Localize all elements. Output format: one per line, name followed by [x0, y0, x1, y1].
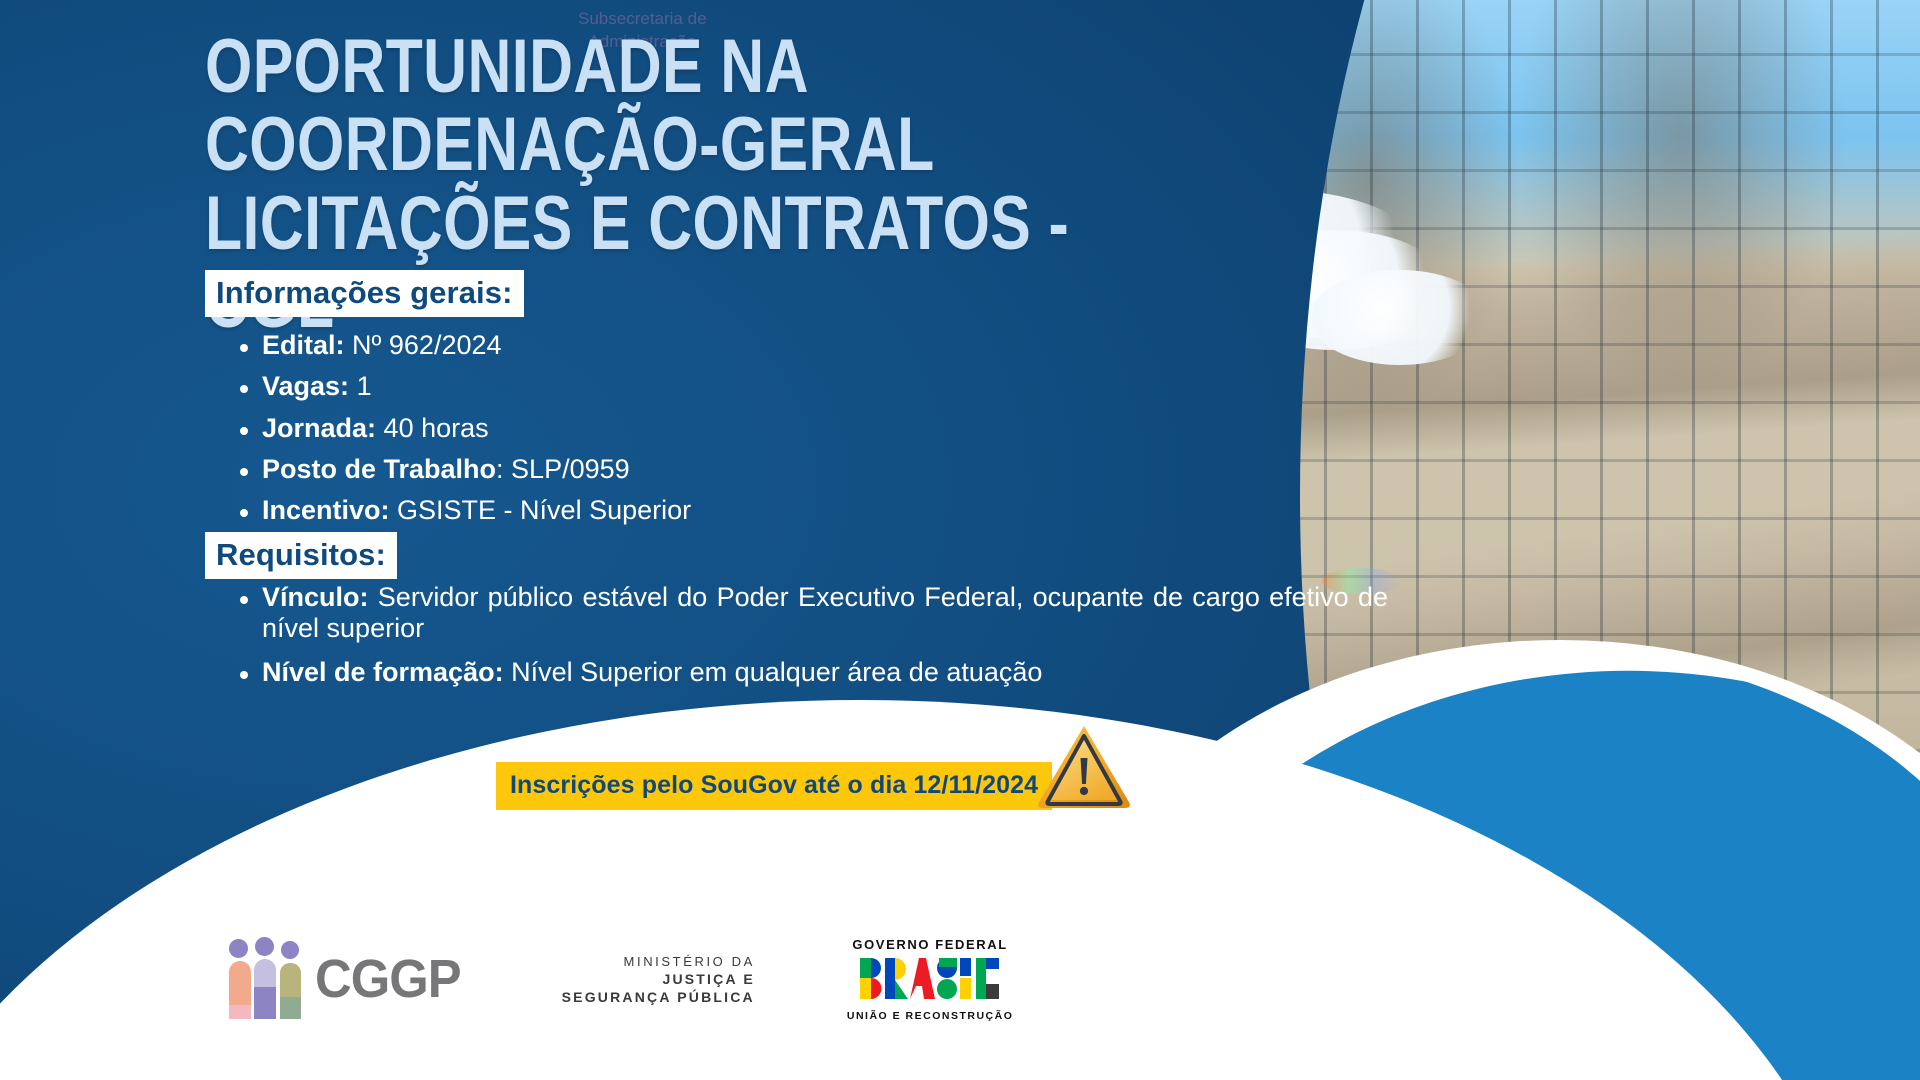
item-value: : SLP/0959	[496, 454, 630, 484]
item-value: Servidor público estável do Poder Execut…	[262, 582, 1388, 643]
saa-wordmark: SAA	[832, 837, 960, 899]
list-item: Posto de Trabalho: SLP/0959	[228, 454, 988, 485]
item-term: Posto de Trabalho	[262, 454, 496, 484]
cggp-logo: CGGP	[227, 937, 470, 1021]
cggp-wordmark: CGGP	[315, 948, 461, 1010]
three-people-icon	[227, 937, 305, 1021]
footer-logo-row: CGGP MINISTÉRIO DA JUSTIÇA E SEGURANÇA P…	[0, 904, 1240, 1054]
item-value: GSISTE - Nível Superior	[397, 495, 691, 525]
item-term: Jornada:	[262, 413, 376, 443]
brasil-wordmark-icon	[847, 956, 1014, 1007]
ministerio-line-1: MINISTÉRIO DA	[562, 954, 755, 969]
list-item: Edital: Nº 962/2024	[228, 330, 988, 361]
item-value: 40 horas	[384, 413, 489, 443]
saa-logo: SAA	[752, 828, 960, 907]
informacoes-gerais-label: Informações gerais:	[205, 270, 524, 317]
governo-federal-label: GOVERNO FEDERAL	[847, 937, 1014, 952]
item-term: Nível de formação:	[262, 657, 504, 687]
governo-federal-logo: GOVERNO FEDERAL	[847, 937, 1014, 1022]
section-label-requisitos: Requisitos:	[205, 532, 397, 579]
inscricoes-callout: Inscrições pelo SouGov até o dia 12/11/2…	[496, 756, 1132, 815]
item-term: Vagas:	[262, 371, 349, 401]
requisitos-label: Requisitos:	[205, 532, 397, 579]
item-term: Vínculo:	[262, 582, 369, 612]
item-value: 1	[357, 371, 372, 401]
informacoes-list: Edital: Nº 962/2024 Vagas: 1 Jornada: 40…	[228, 330, 988, 537]
network-polyhedron-icon	[752, 828, 826, 907]
section-label-informacoes: Informações gerais:	[205, 270, 524, 317]
warning-triangle-icon	[1036, 722, 1132, 815]
list-item: Vagas: 1	[228, 371, 988, 402]
list-item: Nível de formação: Nível Superior em qua…	[228, 657, 1388, 688]
list-item: Vínculo: Servidor público estável do Pod…	[228, 582, 1388, 645]
ministerio-line-3: SEGURANÇA PÚBLICA	[562, 989, 755, 1005]
item-value: Nº 962/2024	[352, 330, 501, 360]
item-value: Nível Superior em qualquer área de atuaç…	[511, 657, 1042, 687]
ministerio-line-2: JUSTIÇA E	[562, 971, 755, 987]
item-term: Incentivo:	[262, 495, 390, 525]
list-item: Incentivo: GSISTE - Nível Superior	[228, 495, 988, 526]
item-term: Edital:	[262, 330, 345, 360]
ministerio-logo: MINISTÉRIO DA JUSTIÇA E SEGURANÇA PÚBLIC…	[562, 954, 755, 1005]
poster-canvas: Subsecretaria de Administração Oportunid…	[0, 0, 1920, 1080]
inscricoes-banner: Inscrições pelo SouGov até o dia 12/11/2…	[496, 762, 1052, 810]
requisitos-list: Vínculo: Servidor público estável do Pod…	[228, 582, 1388, 700]
list-item: Jornada: 40 horas	[228, 413, 988, 444]
uniao-reconstrucao-label: UNIÃO E RECONSTRUÇÃO	[847, 1010, 1014, 1022]
